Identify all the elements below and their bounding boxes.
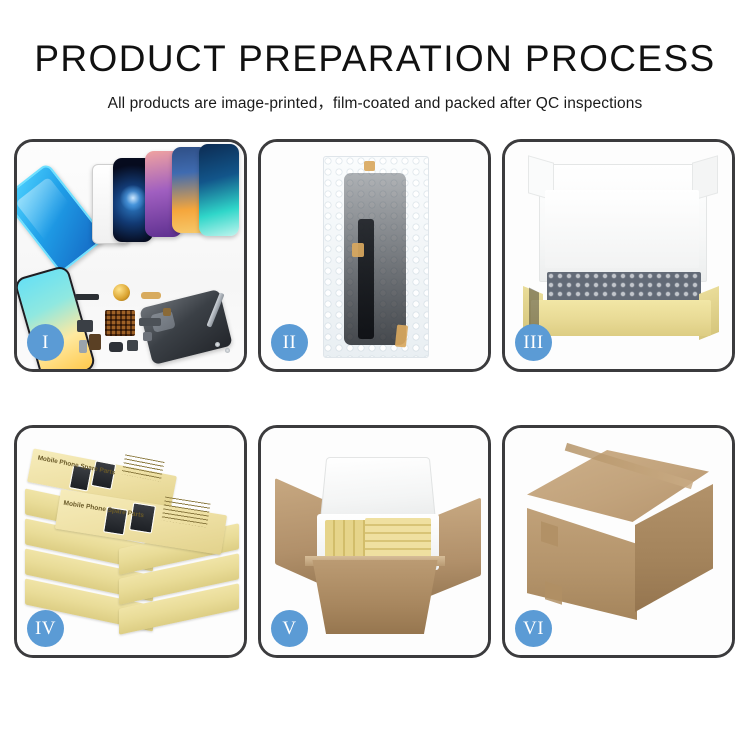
gold-contact-part	[163, 308, 171, 316]
ribbon-cable-part	[139, 318, 161, 326]
earpiece-speaker-part	[75, 294, 99, 300]
phone-teal-screen	[199, 144, 239, 236]
product-preparation-page: PRODUCT PREPARATION PROCESS All products…	[0, 0, 750, 750]
wrapped-flex-cable	[358, 219, 374, 339]
carton-body	[307, 560, 443, 634]
connector-part	[89, 334, 101, 350]
small-chip-part	[143, 332, 152, 341]
process-step-panel-4: Mobile Phone Spare Parts Mobile Phone Sp…	[14, 425, 247, 658]
bracket-part	[127, 340, 138, 351]
bubble-wrap-bag	[323, 156, 429, 358]
process-steps-grid: I II	[14, 139, 736, 658]
sim-tray-part	[79, 340, 87, 353]
box-front-panel	[531, 300, 711, 336]
step-badge-4: IV	[27, 610, 64, 647]
process-step-panel-3: III	[502, 139, 735, 372]
process-step-panel-6: VI	[502, 425, 735, 658]
process-step-panel-2: II	[258, 139, 491, 372]
process-step-panel-1: I	[14, 139, 247, 372]
screw-icon	[215, 342, 220, 347]
speaker-box-part	[109, 342, 123, 352]
process-step-panel-5: V	[258, 425, 491, 658]
vibration-motor-part	[113, 284, 130, 301]
flex-cable-part	[141, 292, 161, 299]
tape-strip	[364, 161, 375, 171]
page-subtitle: All products are image-printed，film-coat…	[0, 91, 750, 113]
foam-sheet	[545, 190, 699, 268]
tape-strip	[395, 324, 408, 347]
wrapped-screen-assembly	[344, 173, 406, 345]
screw-icon	[225, 348, 230, 353]
step-badge-2: II	[271, 324, 308, 361]
page-header: PRODUCT PREPARATION PROCESS All products…	[0, 0, 750, 113]
camera-module-part	[77, 320, 93, 332]
bubble-wrapped-contents	[547, 272, 701, 302]
step-badge-5: V	[271, 610, 308, 647]
screw-tray-part	[105, 310, 135, 336]
step-badge-1: I	[27, 324, 64, 361]
tape-strip	[352, 243, 364, 257]
step-badge-6: VI	[515, 610, 552, 647]
step-badge-3: III	[515, 324, 552, 361]
page-title: PRODUCT PREPARATION PROCESS	[0, 40, 750, 77]
